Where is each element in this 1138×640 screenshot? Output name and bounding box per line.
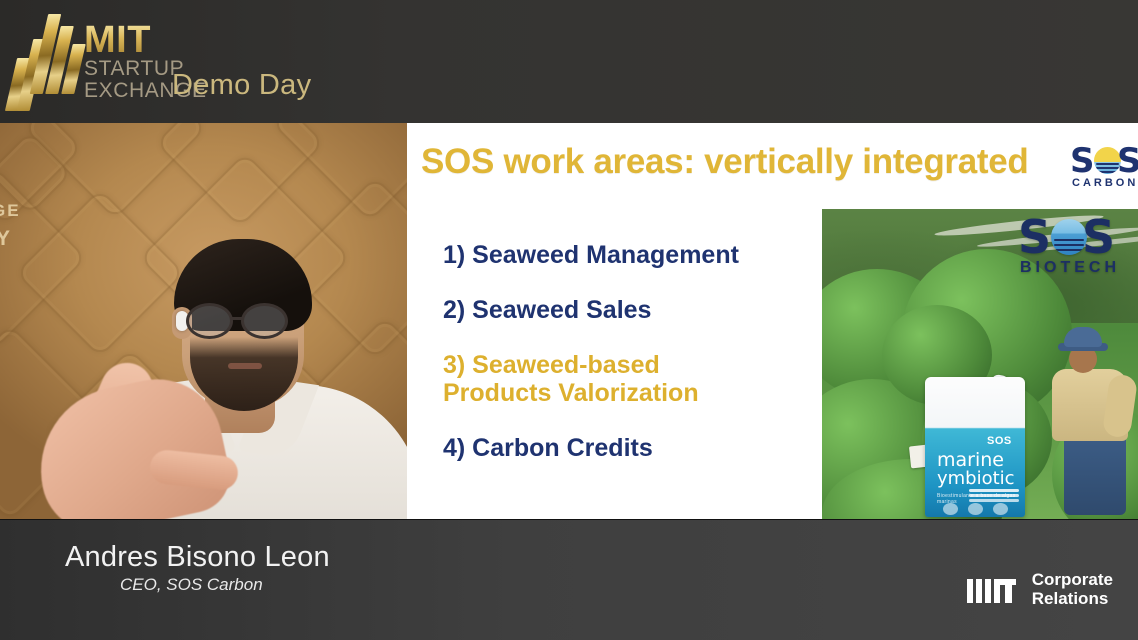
sos-carbon-s-left: S [1070,145,1095,177]
sos-biotech-watermark: S S BIOTECH [1018,215,1138,281]
org-line-1: Corporate [1032,570,1113,589]
sos-carbon-logo: S S CARBON [1070,145,1138,195]
presentation-slide[interactable]: SOS work areas: vertically integrated S … [407,123,1138,519]
mit-corporate-relations-logo: Corporate Relations [967,568,1113,610]
event-title: Demo Day [172,69,311,102]
speaker-role: CEO, SOS Carbon [120,575,263,595]
sos-carbon-subtitle: CARBON [1072,177,1138,189]
sos-biotech-s-right: S [1082,215,1115,259]
slide-title: SOS work areas: vertically integrated [421,142,1061,182]
slide-bullet-list: 1) Seaweed Management 2) Seaweed Sales 3… [443,241,843,489]
screen-root: MIT STARTUP EXCHANGE Demo Day [0,0,1138,640]
product-pouch: SOS marine ymbiotic Bioestimulante a bas… [925,377,1025,517]
bullet-item-4: 4) Carbon Credits [443,434,843,462]
speaker-name: Andres Bisono Leon [65,541,330,574]
mit-logo-bars-icon [8,6,80,110]
main-content-row: GE Y SOS wo [0,123,1138,519]
pouch-badge-3 [993,503,1008,515]
logo-text-mit: MIT [84,22,207,58]
slide-photo: S S BIOTECH [822,209,1138,519]
org-line-2: Relations [1032,589,1113,608]
speaker-mouth [228,363,262,369]
event-header-bar: MIT STARTUP EXCHANGE Demo Day [0,0,1138,123]
pouch-badge-2 [968,503,983,515]
speaker-video-tile[interactable]: GE Y [0,123,407,519]
speaker-person [0,123,407,519]
mit-logo-icon [967,575,1023,603]
bullet-item-2: 2) Seaweed Sales [443,296,843,324]
sos-biotech-s-left: S [1018,215,1051,259]
mit-corporate-relations-text: Corporate Relations [1032,570,1113,608]
pouch-wave-icon [969,489,1019,492]
mit-startup-exchange-logo: MIT STARTUP EXCHANGE [6,2,166,114]
bullet-item-1: 1) Seaweed Management [443,241,843,269]
sos-carbon-s-right: S [1117,145,1138,177]
pouch-badge-1 [943,503,958,515]
pouch-brand: SOS [987,435,1012,447]
bullet-item-3: 3) Seaweed-based Products Valorization [443,351,843,407]
photo-farmer [1050,327,1138,519]
speaker-lower-third-bar: Andres Bisono Leon CEO, SOS Carbon Corpo… [0,519,1138,640]
speaker-glasses-icon [186,303,306,339]
pouch-product-line2: ymbiotic [937,470,1015,488]
sos-biotech-subtitle: BIOTECH [1020,259,1120,277]
